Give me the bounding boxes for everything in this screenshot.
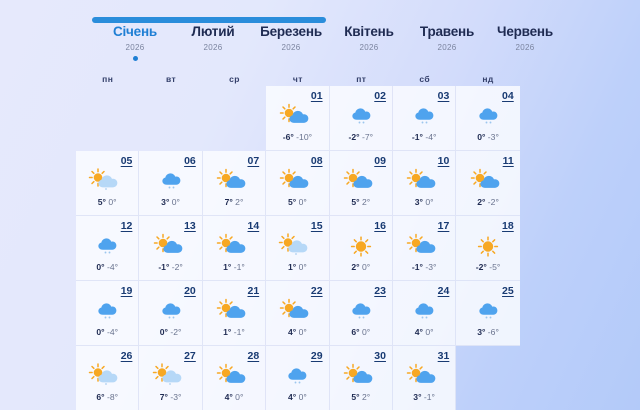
temp-high: -1° — [158, 262, 169, 272]
cloud-snow-icon — [274, 363, 320, 390]
calendar-day-cell[interactable]: 24 4° 0° — [393, 281, 456, 346]
month-tab-name: Березень — [252, 24, 330, 39]
sun-icon — [465, 233, 511, 260]
temp-high: 3° — [413, 392, 421, 402]
temp-low: -2° — [488, 197, 499, 207]
weekday-label-нд: нд — [456, 74, 519, 84]
calendar-day-cell[interactable]: 02 -2° -7° — [330, 86, 393, 151]
month-tab-year: 2026 — [96, 43, 174, 52]
day-number[interactable]: 09 — [374, 155, 386, 167]
calendar-day-cell[interactable]: 28 4° 0° — [203, 346, 266, 410]
temp-high: 1° — [288, 262, 296, 272]
calendar-cell-empty — [76, 86, 139, 151]
sun-cloud-icon — [148, 233, 194, 260]
day-number[interactable]: 31 — [438, 350, 450, 362]
day-temperatures: 3° -6° — [477, 327, 499, 337]
day-number[interactable]: 23 — [374, 285, 386, 297]
day-number[interactable]: 12 — [121, 220, 133, 232]
sun-cloud-icon — [401, 363, 447, 390]
month-tab-1[interactable]: Січень2026 — [96, 22, 174, 61]
temp-high: 5° — [288, 197, 296, 207]
calendar-day-cell[interactable]: 30 5° 2° — [330, 346, 393, 410]
day-temperatures: 4° 0° — [415, 327, 434, 337]
calendar-day-cell[interactable]: 10 3° 0° — [393, 151, 456, 216]
temp-high: 2° — [477, 197, 485, 207]
day-number[interactable]: 17 — [438, 220, 450, 232]
day-number[interactable]: 06 — [184, 155, 196, 167]
temp-low: 0° — [299, 327, 307, 337]
sun-cloud-icon — [274, 103, 320, 130]
day-temperatures: -2° -5° — [476, 262, 501, 272]
temp-high: 5° — [351, 197, 359, 207]
temp-low: -5° — [489, 262, 500, 272]
calendar-day-cell[interactable]: 14 1° -1° — [203, 216, 266, 281]
day-temperatures: 0° -3° — [477, 132, 499, 142]
day-temperatures: -1° -2° — [158, 262, 183, 272]
day-number[interactable]: 19 — [121, 285, 133, 297]
day-temperatures: 5° 2° — [351, 392, 370, 402]
temp-low: 0° — [425, 327, 433, 337]
day-number[interactable]: 05 — [121, 155, 133, 167]
temp-high: -6° — [283, 132, 294, 142]
temp-high: 7° — [160, 392, 168, 402]
month-tab-name: Квітень — [330, 24, 408, 39]
temp-low: -3° — [170, 392, 181, 402]
month-tab-year: 2026 — [486, 43, 564, 52]
sun-icon — [338, 233, 384, 260]
calendar-cell-empty — [203, 86, 266, 151]
day-number[interactable]: 13 — [184, 220, 196, 232]
calendar-day-cell[interactable]: 29 4° 0° — [266, 346, 329, 410]
day-number[interactable]: 29 — [311, 350, 323, 362]
weekday-label-вт: вт — [139, 74, 202, 84]
temp-high: 4° — [288, 392, 296, 402]
temp-low: 0° — [362, 262, 370, 272]
day-number[interactable]: 18 — [502, 220, 514, 232]
day-temperatures: 3° 0° — [161, 197, 180, 207]
calendar-day-cell[interactable]: 20 0° -2° — [139, 281, 202, 346]
cloud-snow-icon — [84, 298, 130, 325]
temp-low: -8° — [107, 392, 118, 402]
calendar-day-cell[interactable]: 12 0° -4° — [76, 216, 139, 281]
sun-cloud-icon — [211, 298, 257, 325]
day-temperatures: 7° 2° — [225, 197, 244, 207]
day-temperatures: 2° 0° — [351, 262, 370, 272]
temp-high: 5° — [98, 197, 106, 207]
month-tab-name: Січень — [96, 24, 174, 39]
temp-low: -4° — [425, 132, 436, 142]
temp-low: 2° — [362, 392, 370, 402]
temp-high: 6° — [96, 392, 104, 402]
calendar-day-cell[interactable]: 09 5° 2° — [330, 151, 393, 216]
day-number[interactable]: 10 — [438, 155, 450, 167]
temp-low: 0° — [299, 392, 307, 402]
sun-cloud-icon — [274, 298, 320, 325]
temp-low: -7° — [362, 132, 373, 142]
day-number[interactable]: 04 — [502, 90, 514, 102]
horizontal-scrollbar-track[interactable] — [0, 8, 640, 16]
day-temperatures: 2° -2° — [477, 197, 499, 207]
day-number[interactable]: 01 — [311, 90, 323, 102]
temp-low: -10° — [296, 132, 312, 142]
day-number[interactable]: 22 — [311, 285, 323, 297]
cloud-snow-icon — [148, 298, 194, 325]
day-number[interactable]: 21 — [247, 285, 259, 297]
month-tab-year: 2026 — [252, 43, 330, 52]
cloud-snow-icon — [465, 298, 511, 325]
day-number[interactable]: 11 — [503, 155, 514, 167]
month-tab-year: 2026 — [174, 43, 252, 52]
temp-low: -2° — [170, 327, 181, 337]
day-temperatures: 3° -1° — [413, 392, 435, 402]
temp-high: -2° — [476, 262, 487, 272]
day-number[interactable]: 27 — [184, 350, 196, 362]
temp-high: 4° — [288, 327, 296, 337]
calendar-day-cell[interactable]: 27 7° -3° — [139, 346, 202, 410]
sun-cloud-icon — [211, 168, 257, 195]
sun-cloud-icon — [211, 363, 257, 390]
calendar-day-cell[interactable]: 26 6° -8° — [76, 346, 139, 410]
calendar-day-cell[interactable]: 11 2° -2° — [456, 151, 519, 216]
month-tab-year: 2026 — [330, 43, 408, 52]
cloud-snow-icon — [401, 298, 447, 325]
calendar-day-cell[interactable]: 22 4° 0° — [266, 281, 329, 346]
weekday-label-ср: ср — [203, 74, 266, 84]
sun-cloud-snow-icon — [148, 363, 194, 390]
temp-high: 4° — [415, 327, 423, 337]
day-temperatures: 0° -2° — [160, 327, 182, 337]
month-tab-name: Травень — [408, 24, 486, 39]
day-temperatures: 4° 0° — [288, 327, 307, 337]
cloud-snow-icon — [401, 103, 447, 130]
day-temperatures: -2° -7° — [348, 132, 373, 142]
temp-low: 0° — [108, 197, 116, 207]
temp-high: 1° — [223, 262, 231, 272]
day-number[interactable]: 08 — [311, 155, 323, 167]
temp-low: 0° — [172, 197, 180, 207]
calendar-day-cell[interactable]: 31 3° -1° — [393, 346, 456, 410]
day-number[interactable]: 07 — [247, 155, 259, 167]
calendar-day-cell[interactable]: 04 0° -3° — [456, 86, 519, 151]
day-temperatures: 5° 2° — [351, 197, 370, 207]
calendar-day-cell[interactable]: 19 0° -4° — [76, 281, 139, 346]
day-temperatures: 0° -4° — [96, 262, 118, 272]
month-tab-year: 2026 — [408, 43, 486, 52]
temp-high: 2° — [351, 262, 359, 272]
calendar-day-cell[interactable]: 15 1° 0° — [266, 216, 329, 281]
calendar-cell-empty — [456, 346, 519, 410]
sun-cloud-icon — [338, 168, 384, 195]
temp-high: 0° — [477, 132, 485, 142]
calendar-day-cell[interactable]: 162° 0° — [330, 216, 393, 281]
temp-high: 0° — [96, 327, 104, 337]
day-number[interactable]: 03 — [438, 90, 450, 102]
calendar-day-cell[interactable]: 13 -1° -2° — [139, 216, 202, 281]
month-tab-4[interactable]: Квітень2026 — [330, 22, 408, 61]
temp-high: 0° — [96, 262, 104, 272]
sun-cloud-snow-icon — [274, 233, 320, 260]
temp-low: 0° — [235, 392, 243, 402]
temp-high: 0° — [160, 327, 168, 337]
temp-high: 4° — [225, 392, 233, 402]
day-temperatures: 4° 0° — [225, 392, 244, 402]
day-number[interactable]: 20 — [184, 285, 196, 297]
weekday-label-пт: пт — [330, 74, 393, 84]
day-number[interactable]: 02 — [374, 90, 386, 102]
day-temperatures: 3° 0° — [415, 197, 434, 207]
temp-low: -1° — [424, 392, 435, 402]
day-temperatures: -1° -4° — [412, 132, 437, 142]
calendar-grid: 01 -6° -10°02 -2° -7°03 -1° -4°04 0° -3°… — [76, 86, 520, 410]
day-temperatures: 0° -4° — [96, 327, 118, 337]
day-temperatures: 7° -3° — [160, 392, 182, 402]
temp-low: -6° — [488, 327, 499, 337]
temp-high: 3° — [161, 197, 169, 207]
sun-cloud-icon — [465, 168, 511, 195]
month-tab-name: Червень — [486, 24, 564, 39]
calendar-cell-empty — [139, 86, 202, 151]
month-tab-name: Лютий — [174, 24, 252, 39]
day-number[interactable]: 24 — [438, 285, 450, 297]
day-temperatures: 6° 0° — [351, 327, 370, 337]
calendar-day-cell[interactable]: 07 7° 2° — [203, 151, 266, 216]
day-temperatures: 6° -8° — [96, 392, 118, 402]
day-temperatures: 4° 0° — [288, 392, 307, 402]
calendar-day-cell[interactable]: 03 -1° -4° — [393, 86, 456, 151]
temp-high: 1° — [223, 327, 231, 337]
calendar-day-cell[interactable]: 21 1° -1° — [203, 281, 266, 346]
calendar-day-cell[interactable]: 06 3° 0° — [139, 151, 202, 216]
temp-low: 0° — [299, 262, 307, 272]
temp-low: -2° — [172, 262, 183, 272]
temp-high: 7° — [225, 197, 233, 207]
temp-high: -2° — [348, 132, 359, 142]
month-tab-5[interactable]: Травень2026 — [408, 22, 486, 61]
day-temperatures: 5° 0° — [98, 197, 117, 207]
day-number[interactable]: 15 — [311, 220, 323, 232]
temp-high: -1° — [412, 132, 423, 142]
temp-low: 0° — [362, 327, 370, 337]
sun-cloud-icon — [274, 168, 320, 195]
day-number[interactable]: 25 — [502, 285, 514, 297]
temp-low: -4° — [107, 327, 118, 337]
weekday-header-row: пнвтсрчтптсбнд — [76, 74, 520, 84]
month-tab-bar: Січень2026Лютий2026Березень2026Квітень20… — [0, 22, 640, 64]
temp-low: 0° — [299, 197, 307, 207]
day-number[interactable]: 26 — [121, 350, 133, 362]
day-temperatures: -1° -3° — [412, 262, 437, 272]
calendar-day-cell[interactable]: 17 -1° -3° — [393, 216, 456, 281]
month-tab-6[interactable]: Червень2026 — [486, 22, 564, 61]
day-temperatures: 1° -1° — [223, 262, 245, 272]
sun-cloud-icon — [401, 233, 447, 260]
day-temperatures: -6° -10° — [283, 132, 312, 142]
temp-low: 2° — [235, 197, 243, 207]
calendar-day-cell[interactable]: 08 5° 0° — [266, 151, 329, 216]
cloud-snow-icon — [338, 103, 384, 130]
temp-high: 3° — [415, 197, 423, 207]
temp-low: -1° — [234, 327, 245, 337]
temp-high: 3° — [477, 327, 485, 337]
weekday-label-сб: сб — [393, 74, 456, 84]
day-temperatures: 1° 0° — [288, 262, 307, 272]
month-tab-2[interactable]: Лютий2026 — [174, 22, 252, 61]
sun-cloud-icon — [211, 233, 257, 260]
day-number[interactable]: 14 — [247, 220, 259, 232]
day-temperatures: 1° -1° — [223, 327, 245, 337]
cloud-snow-icon — [465, 103, 511, 130]
day-number[interactable]: 30 — [374, 350, 386, 362]
temp-high: -1° — [412, 262, 423, 272]
weekday-label-чт: чт — [266, 74, 329, 84]
calendar-day-cell[interactable]: 05 5° 0° — [76, 151, 139, 216]
temp-low: -1° — [234, 262, 245, 272]
temp-low: -3° — [488, 132, 499, 142]
temp-high: 6° — [351, 327, 359, 337]
sun-cloud-icon — [338, 363, 384, 390]
calendar-day-cell[interactable]: 18-2° -5° — [456, 216, 519, 281]
month-active-indicator-dot — [133, 56, 138, 61]
day-number[interactable]: 16 — [374, 220, 386, 232]
calendar-day-cell[interactable]: 25 3° -6° — [456, 281, 519, 346]
sun-cloud-snow-icon — [84, 168, 130, 195]
temp-low: -4° — [107, 262, 118, 272]
sun-cloud-icon — [401, 168, 447, 195]
cloud-snow-icon — [84, 233, 130, 260]
weekday-label-пн: пн — [76, 74, 139, 84]
temp-low: 2° — [362, 197, 370, 207]
cloud-snow-icon — [148, 168, 194, 195]
calendar-day-cell[interactable]: 23 6° 0° — [330, 281, 393, 346]
day-temperatures: 5° 0° — [288, 197, 307, 207]
cloud-snow-icon — [338, 298, 384, 325]
sun-cloud-snow-icon — [84, 363, 130, 390]
day-number[interactable]: 28 — [247, 350, 259, 362]
calendar-day-cell[interactable]: 01 -6° -10° — [266, 86, 329, 151]
temp-low: -3° — [425, 262, 436, 272]
month-tab-3[interactable]: Березень2026 — [252, 22, 330, 61]
temp-high: 5° — [351, 392, 359, 402]
temp-low: 0° — [425, 197, 433, 207]
